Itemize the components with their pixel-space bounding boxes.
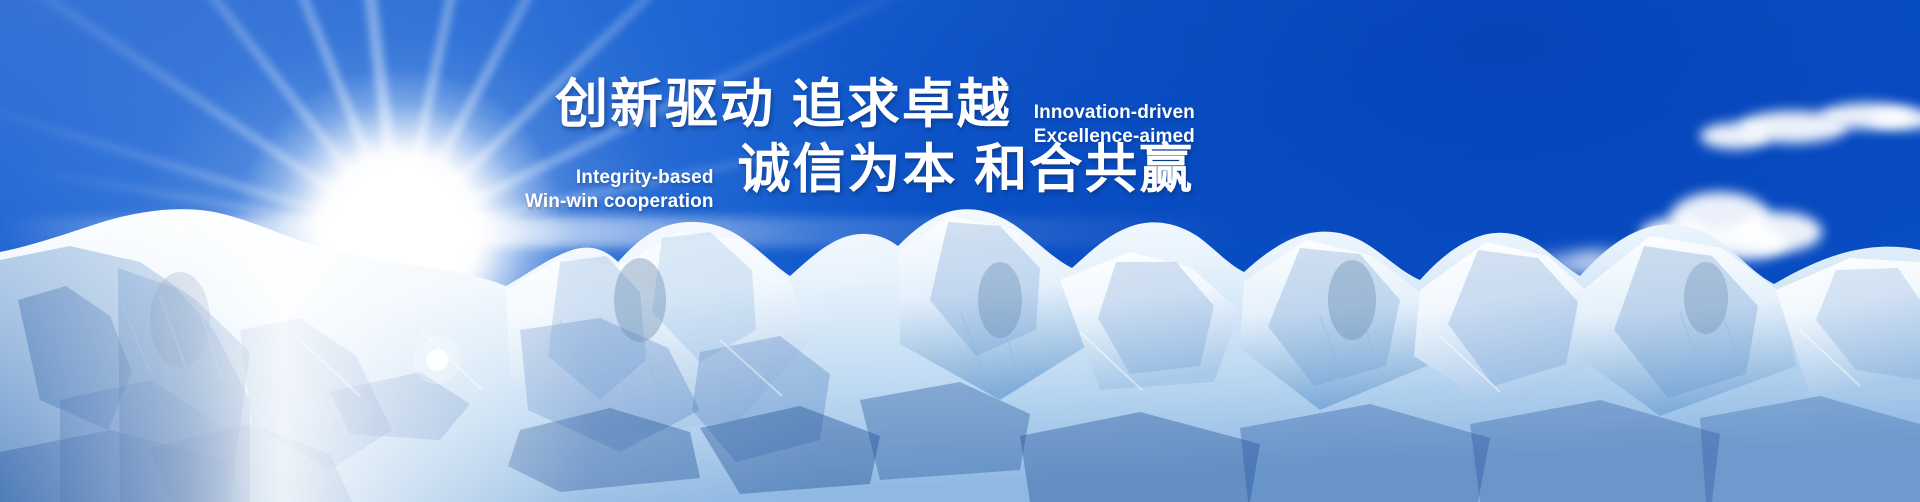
snow-sparkle-glow: [413, 336, 461, 384]
hero-banner: 创新驱动 追求卓越 Innovation-driven Excellence-a…: [0, 0, 1920, 502]
mountain-body: [0, 195, 1920, 502]
mountain-range: [0, 0, 1920, 502]
